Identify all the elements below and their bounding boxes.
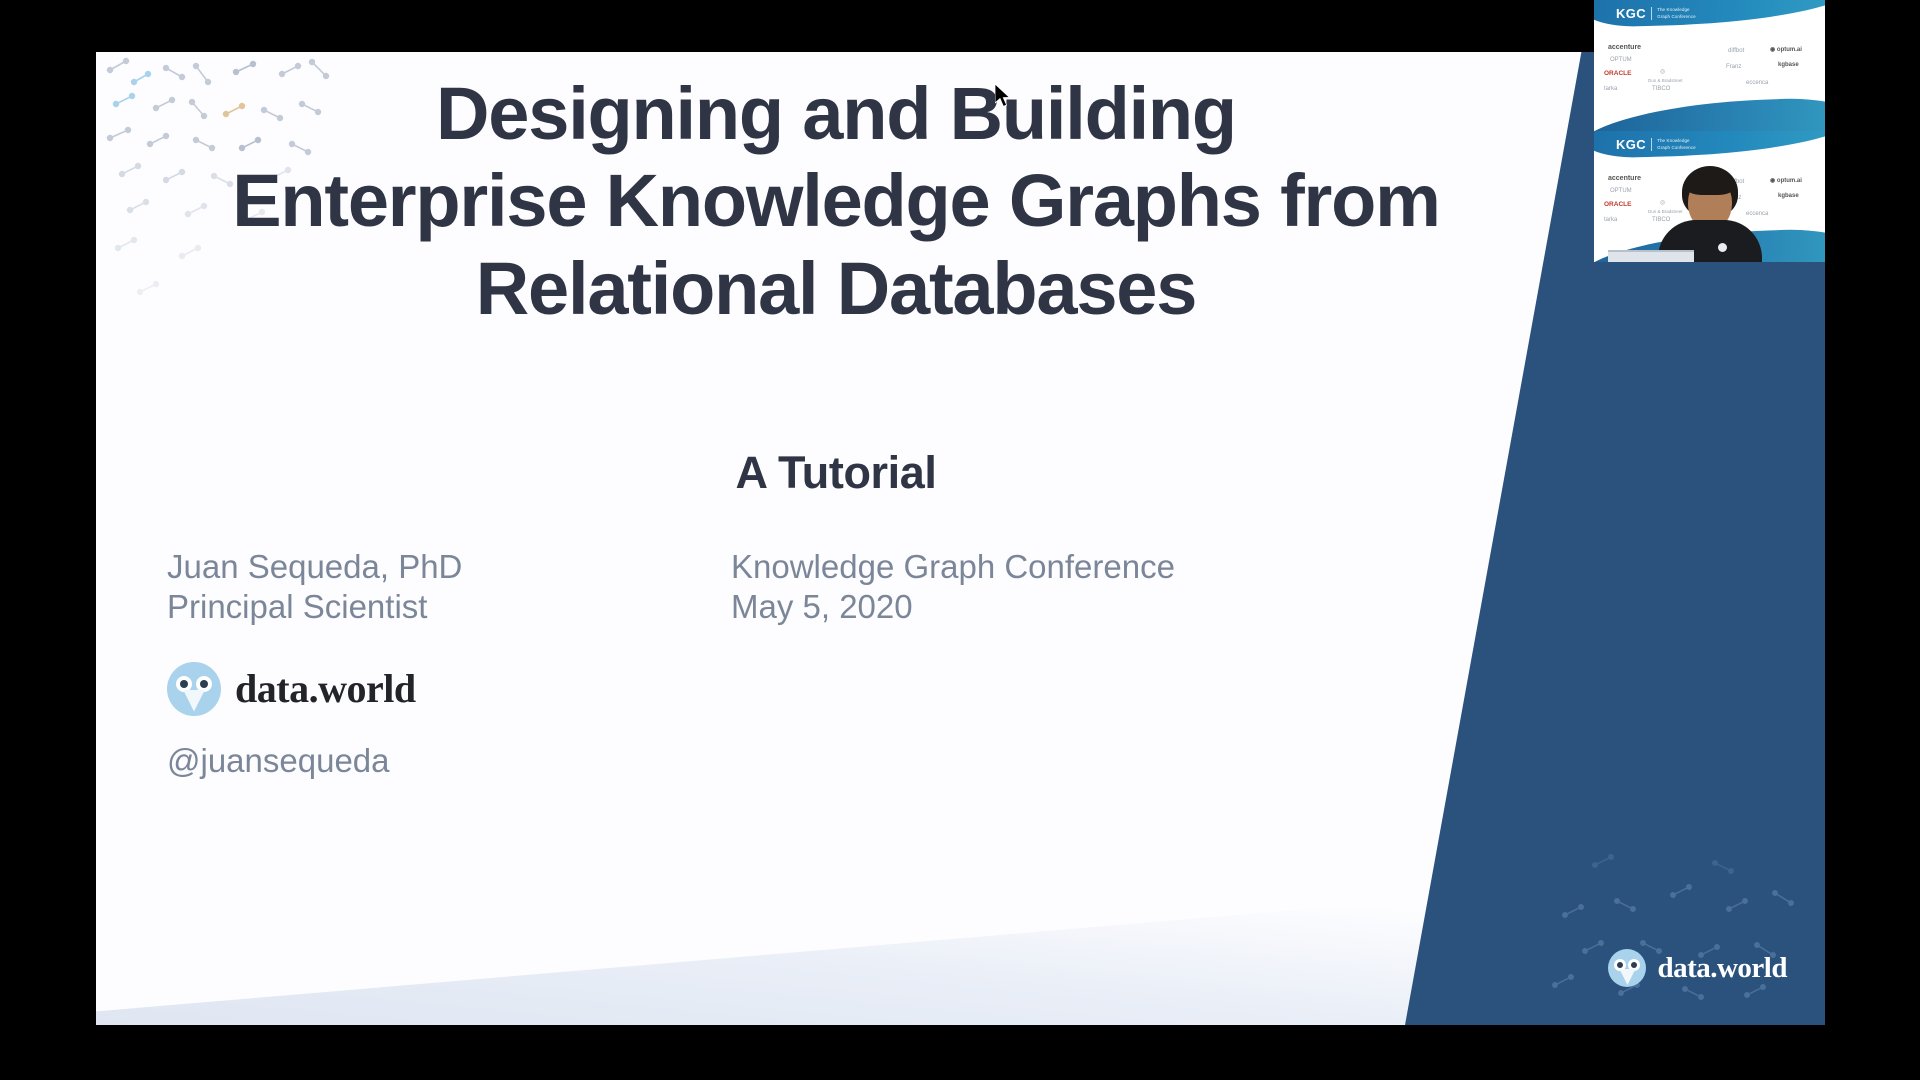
slide-canvas: Designing and Building Enterprise Knowle… xyxy=(96,52,1825,1025)
title-line-2: Enterprise Knowledge Graphs from xyxy=(96,157,1576,244)
webcam-overlay[interactable]: KGC The Knowledge Graph Conference accen… xyxy=(1594,0,1825,262)
presenter-video-figure xyxy=(1656,166,1764,262)
kgc-tagline-1: The Knowledge xyxy=(1657,7,1690,12)
webcam-frame-upper: KGC The Knowledge Graph Conference accen… xyxy=(1594,0,1825,131)
presenter-name: Juan Sequeda, PhD xyxy=(167,547,462,587)
dataworld-wordmark: data.world xyxy=(235,665,416,712)
watermark-label: data.world xyxy=(1657,952,1787,985)
presentation-screen: Designing and Building Enterprise Knowle… xyxy=(0,0,1920,1080)
dataworld-logo: data.world xyxy=(167,662,462,716)
event-info: Knowledge Graph Conference May 5, 2020 xyxy=(731,547,1175,628)
laptop-edge-decoration xyxy=(1608,250,1694,262)
kgc-logo-lower: KGC The Knowledge Graph Conference xyxy=(1616,137,1696,152)
event-name: Knowledge Graph Conference xyxy=(731,547,1175,587)
kgc-brand: KGC xyxy=(1616,6,1646,21)
event-date: May 5, 2020 xyxy=(731,587,1175,627)
dataworld-watermark: data.world xyxy=(1608,949,1787,987)
webcam-frame-lower: KGC The Knowledge Graph Conference accen… xyxy=(1594,131,1825,262)
kgc-tagline-2-lower: Graph Conference xyxy=(1657,145,1696,150)
kgc-brand-lower: KGC xyxy=(1616,137,1646,152)
slide-title: Designing and Building Enterprise Knowle… xyxy=(96,70,1576,332)
presenter-role: Principal Scientist xyxy=(167,587,462,627)
slide-subtitle: A Tutorial xyxy=(96,447,1576,499)
owl-icon xyxy=(167,662,221,716)
kgc-tagline-1-lower: The Knowledge xyxy=(1657,138,1690,143)
kgc-logo: KGC The Knowledge Graph Conference xyxy=(1616,6,1696,21)
presenter-handle: @juansequeda xyxy=(167,742,462,780)
title-line-3: Relational Databases xyxy=(96,245,1576,332)
presenter-info: Juan Sequeda, PhD Principal Scientist da… xyxy=(167,547,462,780)
title-line-1: Designing and Building xyxy=(96,70,1576,157)
sponsor-logos-upper: accenture OPTUM ORACLE ◎ Dun & Bradstree… xyxy=(1604,42,1815,102)
kgc-tagline-2: Graph Conference xyxy=(1657,14,1696,19)
owl-icon-watermark xyxy=(1608,949,1646,987)
